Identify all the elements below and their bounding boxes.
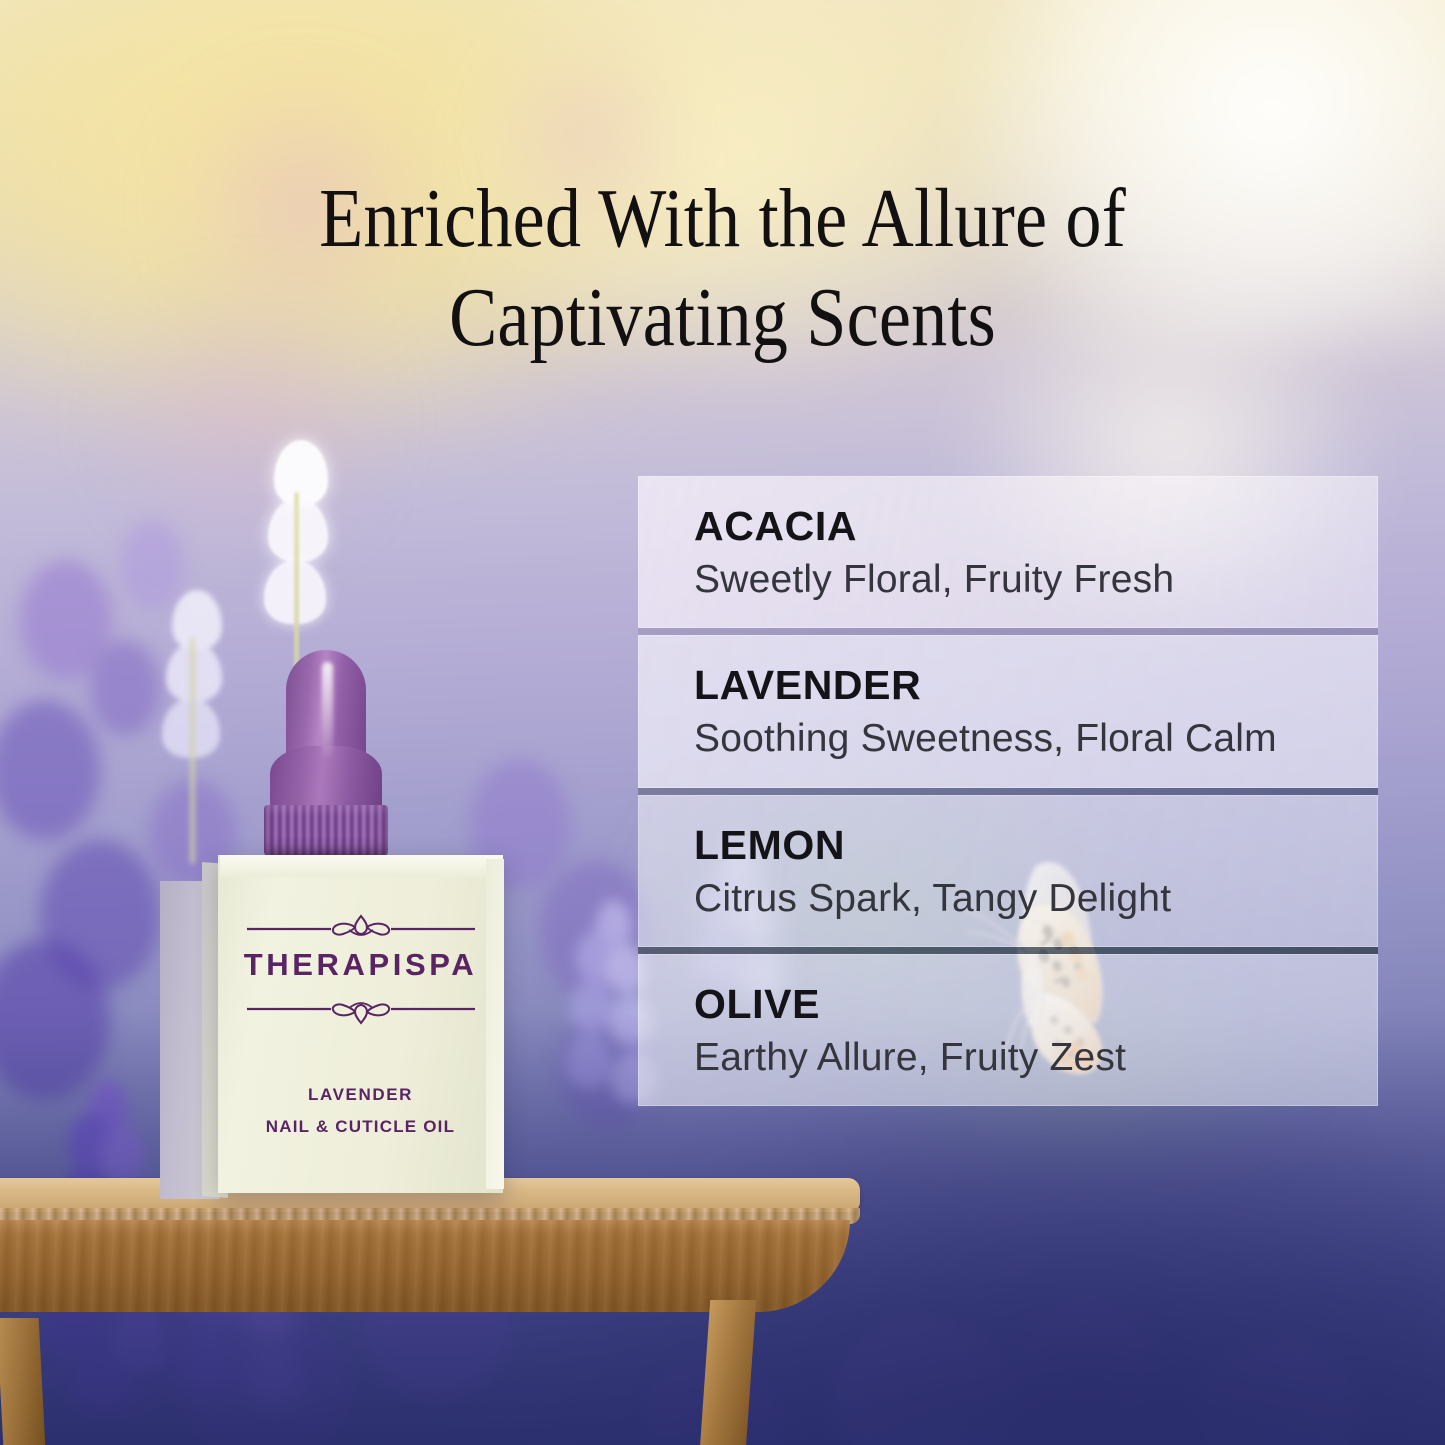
table-leg-left (0, 1318, 45, 1445)
headline-line-2: Captivating Scents (101, 269, 1344, 367)
brand-name: THERAPISPA (218, 947, 503, 983)
scent-separator (638, 628, 1378, 635)
scent-item-lemon[interactable]: LEMON Citrus Spark, Tangy Delight (638, 795, 1378, 947)
scent-item-lavender[interactable]: LAVENDER Soothing Sweetness, Floral Calm (638, 635, 1378, 787)
scent-name: LAVENDER (694, 665, 1378, 706)
scent-separator (638, 788, 1378, 795)
product-marketing-image: NEW YORK THERAPISPA (0, 0, 1445, 1445)
product-variant: LAVENDER (218, 1085, 503, 1105)
scent-item-olive[interactable]: OLIVE Earthy Allure, Fruity Zest (638, 954, 1378, 1106)
cap-ridged-band (264, 805, 388, 857)
scent-name: LEMON (694, 825, 1378, 866)
box-top-bevel (220, 855, 503, 877)
product-type: NAIL & CUTICLE OIL (218, 1117, 503, 1137)
scent-name: OLIVE (694, 984, 1378, 1025)
page-title: Enriched With the Allure of Captivating … (101, 170, 1344, 367)
cap-highlight (322, 662, 333, 758)
scent-description: Soothing Sweetness, Floral Calm (694, 718, 1378, 759)
flourish-ornament-icon (218, 911, 503, 941)
scent-list: ACACIA Sweetly Floral, Fruity Fresh LAVE… (638, 476, 1378, 1106)
table-apron (0, 1220, 850, 1312)
scent-item-acacia[interactable]: ACACIA Sweetly Floral, Fruity Fresh (638, 476, 1378, 628)
headline-line-1: Enriched With the Allure of (319, 172, 1126, 265)
flourish-ornament-icon (218, 997, 503, 1027)
scent-description: Sweetly Floral, Fruity Fresh (694, 559, 1378, 600)
dropper-cap (264, 650, 388, 862)
scent-separator (638, 947, 1378, 954)
scent-name: ACACIA (694, 506, 1378, 547)
scent-description: Citrus Spark, Tangy Delight (694, 878, 1378, 919)
wood-grain-texture (0, 1220, 850, 1312)
product-box: NEW YORK THERAPISPA (150, 855, 530, 1200)
lavender-sprig-icon (148, 590, 268, 870)
scent-description: Earthy Allure, Fruity Zest (694, 1037, 1378, 1078)
